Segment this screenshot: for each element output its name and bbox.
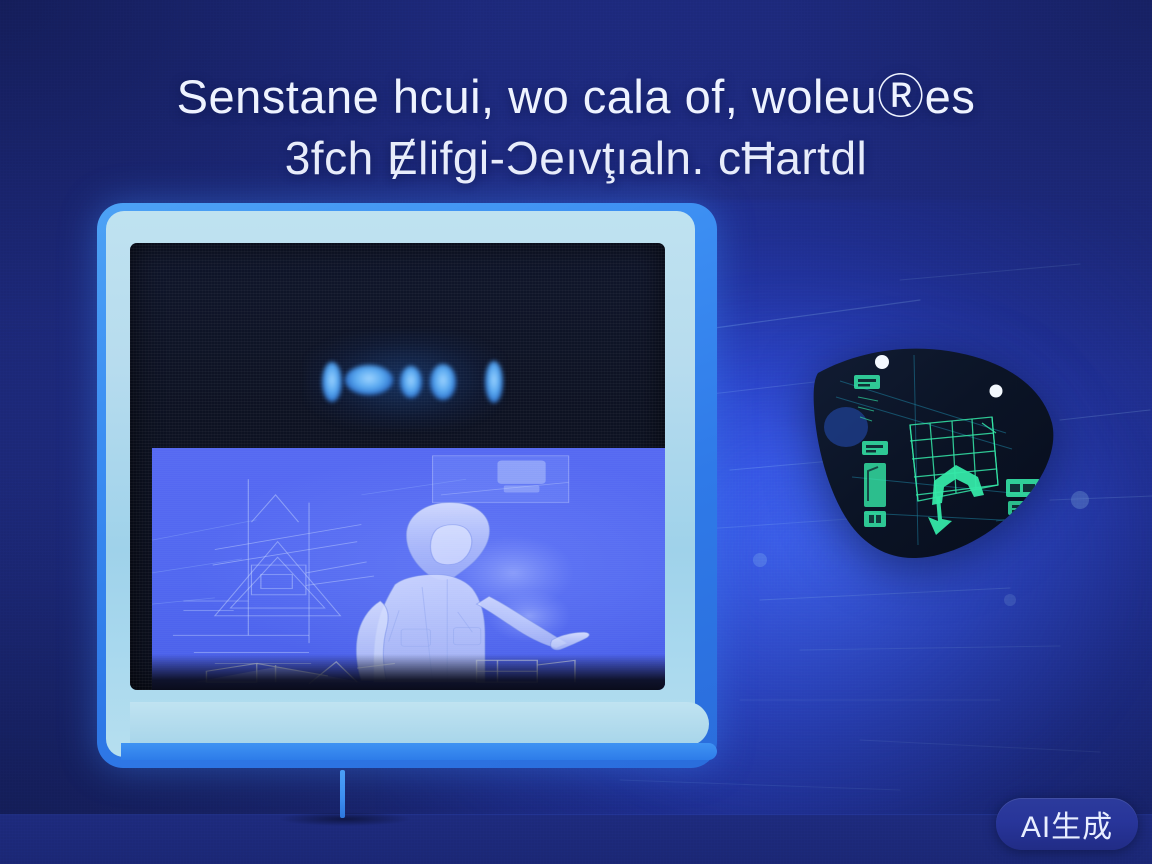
screen-glow-blob [430, 364, 456, 400]
screen-glow-blob [485, 361, 503, 403]
title-line-2: 3fch Ɇlifɡi-Ɔeıvţıaln. cĦartdl [0, 128, 1152, 188]
monitor-stand-shadow [280, 812, 410, 826]
shield-rivet-right [990, 385, 1003, 398]
desktop-monitor [97, 203, 717, 768]
monitor-chin-lip [121, 743, 717, 760]
video-feed [152, 448, 665, 690]
screen-glow-blob [322, 362, 342, 402]
title-line-1: Senstane hcui, wo cala of, woleuⓇes [0, 66, 1152, 128]
page-title: Senstane hcui, wo cala of, woleuⓇes 3fch… [0, 66, 1152, 188]
security-shield [806, 345, 1064, 560]
screen-glow-blob [400, 366, 422, 398]
monitor-chin [130, 702, 709, 746]
hud-chip-group-right [1006, 479, 1040, 515]
screen-glow-blob [345, 365, 393, 395]
ground-band [0, 815, 1152, 864]
monitor-stand [340, 770, 345, 818]
ai-generated-badge-label: AI生成 [1021, 802, 1113, 846]
shield-rivet-left [875, 355, 889, 369]
video-bottom-shadow [152, 654, 665, 690]
ai-generated-badge: AI生成 [996, 798, 1138, 850]
monitor-screen [130, 243, 665, 690]
illustration-canvas: Senstane hcui, wo cala of, woleuⓇes 3fch… [0, 0, 1152, 864]
